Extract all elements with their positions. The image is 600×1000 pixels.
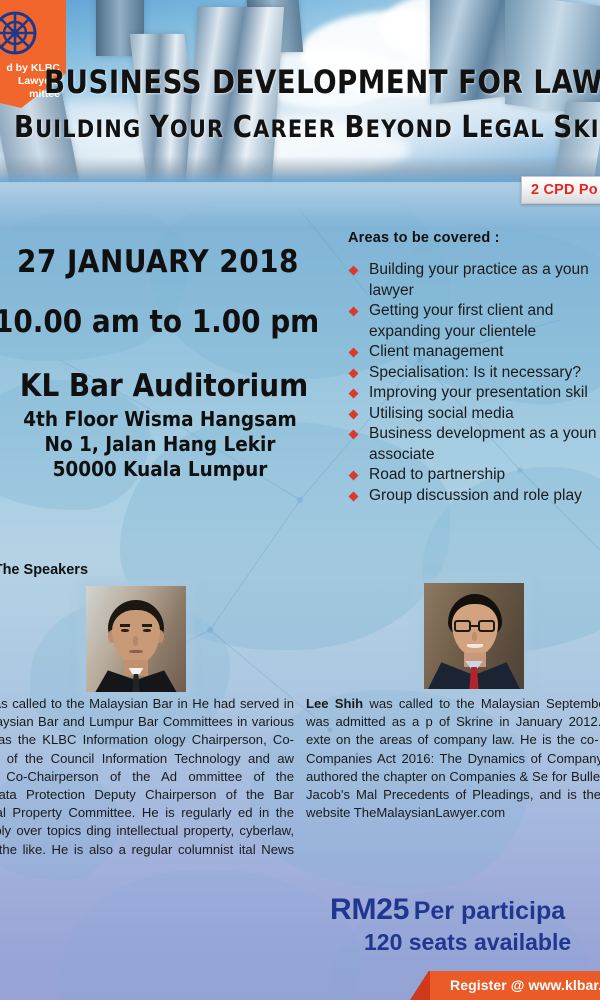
- speaker-one-photo: [86, 586, 186, 692]
- subtitle-word-1: UILDING: [35, 115, 150, 143]
- event-poster: d by KLBC Lawyers mittee BUSINESS DEVELO…: [0, 0, 600, 1000]
- list-item: Utilising social media: [348, 404, 600, 425]
- speaker-one-bio-text: was called to the Malaysian Bar in He ha…: [0, 696, 294, 875]
- diamond-bullet-icon: [349, 348, 359, 358]
- cpd-points-badge: 2 CPD Po: [521, 176, 600, 204]
- list-item-label: associate: [369, 446, 434, 463]
- price-amount: RM25: [330, 893, 409, 926]
- list-item-label: Business development as a youn: [369, 425, 596, 442]
- event-date: 27 JANUARY 2018: [8, 244, 308, 280]
- list-item-label: Group discussion and role play: [369, 487, 582, 504]
- list-item: Business development as a youn: [348, 424, 600, 445]
- poster-subtitle: BUILDING YOUR CAREER BEYOND LEGAL SKIL: [14, 110, 600, 145]
- subtitle-cap-2: Y: [150, 110, 170, 145]
- list-item-label: Getting your first client and: [369, 302, 553, 319]
- list-item-continuation: associate: [348, 445, 600, 466]
- list-item: Specialisation: Is it necessary?: [348, 363, 600, 384]
- subtitle-word-4: EYOND: [366, 115, 462, 143]
- speaker-two-name: Lee Shih: [306, 696, 363, 711]
- diamond-bullet-icon: [349, 368, 359, 378]
- subtitle-cap-5: L: [461, 110, 479, 145]
- poster-main-title: BUSINESS DEVELOPMENT FOR LAWYER: [44, 63, 600, 101]
- event-time: 10.00 am to 1.00 pm: [0, 304, 294, 340]
- subtitle-word-3: AREER: [253, 115, 344, 143]
- areas-covered-section: Areas to be covered : Building your prac…: [348, 230, 600, 506]
- bar-council-emblem-icon: [0, 10, 38, 56]
- list-item-label: expanding your clientele: [369, 323, 536, 340]
- subtitle-cap-6: S: [553, 110, 573, 145]
- list-item: Road to partnership: [348, 465, 600, 486]
- subtitle-cap-1: B: [14, 110, 35, 145]
- register-url-label[interactable]: Register @ www.klbar.o: [450, 977, 600, 993]
- list-item-label: Building your practice as a youn: [369, 261, 589, 278]
- list-item-label: Client management: [369, 343, 503, 360]
- list-item: Improving your presentation skil: [348, 383, 600, 404]
- speakers-heading: ut The Speakers: [0, 562, 236, 578]
- diamond-bullet-icon: [349, 307, 359, 317]
- event-address: 4th Floor Wisma Hangsam No 1, Jalan Hang…: [10, 407, 310, 482]
- diamond-bullet-icon: [349, 266, 359, 276]
- speaker-one-bio: g Leong was called to the Malaysian Bar …: [0, 695, 294, 877]
- diamond-bullet-icon: [349, 409, 359, 419]
- address-line-2: No 1, Jalan Hang Lekir: [10, 432, 310, 457]
- areas-covered-heading: Areas to be covered :: [348, 230, 600, 246]
- address-line-3: 50000 Kuala Lumpur: [10, 457, 310, 482]
- diamond-bullet-icon: [349, 491, 359, 501]
- address-line-1: 4th Floor Wisma Hangsam: [10, 407, 310, 432]
- seats-available: 120 seats available: [330, 929, 600, 956]
- list-item-continuation: expanding your clientele: [348, 322, 600, 343]
- list-item-label: Improving your presentation skil: [369, 384, 588, 401]
- diamond-bullet-icon: [349, 430, 359, 440]
- speaker-two-bio: Lee Shih was called to the Malaysian Sep…: [306, 695, 600, 822]
- list-item: Group discussion and role play: [348, 486, 600, 507]
- list-item: Client management: [348, 342, 600, 363]
- price-line: RM25 Per participa: [330, 893, 600, 927]
- list-item-label: lawyer: [369, 282, 414, 299]
- subtitle-word-5: EGAL: [479, 115, 553, 143]
- subtitle-cap-3: C: [233, 110, 253, 145]
- list-item: Building your practice as a youn: [348, 260, 600, 281]
- subtitle-word-2: OUR: [170, 115, 233, 143]
- cpd-points-label: 2 CPD Po: [522, 182, 598, 198]
- areas-covered-list: Building your practice as a youn lawyer …: [348, 260, 600, 506]
- subtitle-word-6: KIL: [573, 115, 600, 143]
- list-item: Getting your first client and: [348, 301, 600, 322]
- price-section: RM25 Per participa 120 seats available: [330, 893, 600, 956]
- diamond-bullet-icon: [349, 471, 359, 481]
- list-item-label: Utilising social media: [369, 405, 514, 422]
- list-item-label: Road to partnership: [369, 466, 505, 483]
- subtitle-cap-4: B: [345, 110, 366, 145]
- speaker-two-bio-text: was called to the Malaysian September 20…: [306, 696, 600, 820]
- event-venue: KL Bar Auditorium: [14, 368, 314, 404]
- list-item-continuation: lawyer: [348, 281, 600, 302]
- price-per-label: Per participa: [414, 897, 565, 925]
- diamond-bullet-icon: [349, 389, 359, 399]
- list-item-label: Specialisation: Is it necessary?: [369, 364, 581, 381]
- speaker-two-photo: [424, 583, 524, 689]
- event-details: 27 JANUARY 2018 10.00 am to 1.00 pm KL B…: [0, 244, 300, 482]
